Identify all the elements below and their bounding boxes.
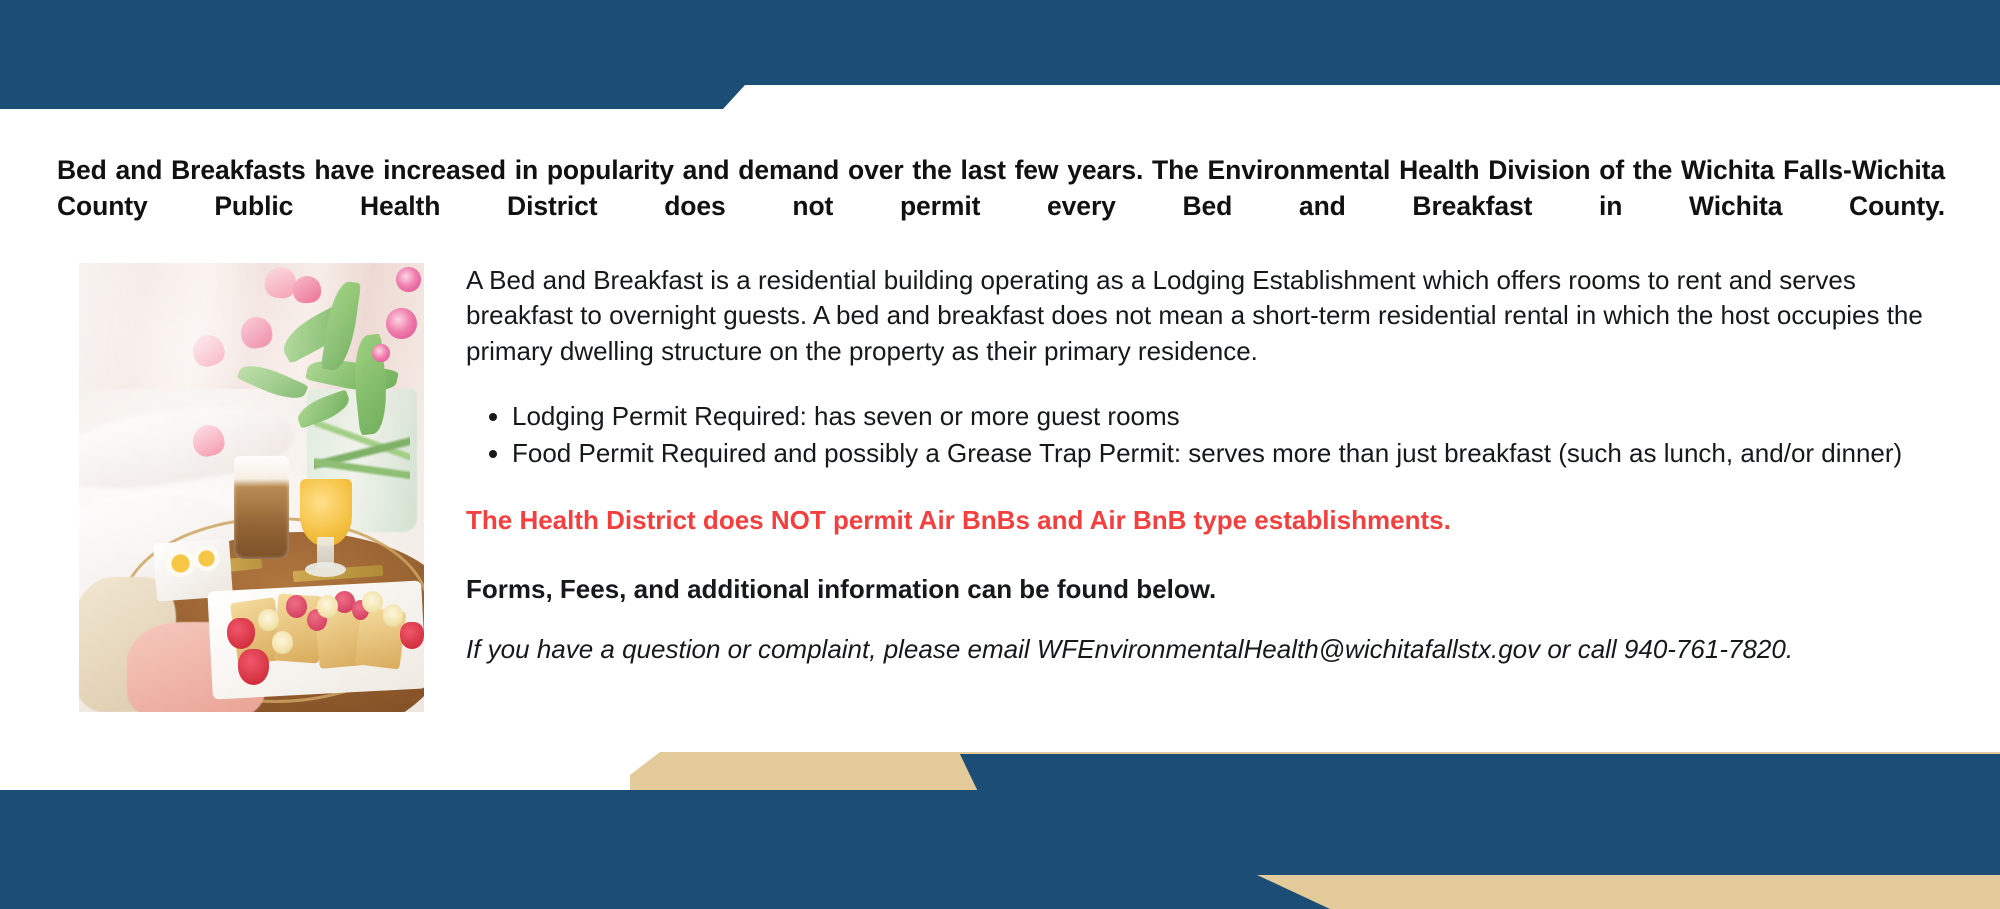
forms-fees-note: Forms, Fees, and additional information … <box>466 573 1946 607</box>
list-item: Lodging Permit Required: has seven or mo… <box>512 399 1946 434</box>
contact-line: If you have a question or complaint, ple… <box>466 633 1946 667</box>
photo-layers <box>79 263 424 712</box>
bottom-banner-tan <box>630 775 2000 909</box>
page-root: Bed and Breakfasts have increased in pop… <box>0 0 2000 909</box>
definition-paragraph: A Bed and Breakfast is a residential bui… <box>466 263 1946 369</box>
bottom-banner-tan-upper-notch <box>630 752 2000 775</box>
permit-requirements-list: Lodging Permit Required: has seven or mo… <box>466 399 1946 471</box>
photo-light-glow <box>79 263 424 712</box>
bottom-banner-blue-right <box>960 754 2000 875</box>
bottom-banner-cream-stripe <box>0 820 2000 849</box>
top-banner-blue <box>0 0 2000 109</box>
bottom-banner-blue-right-bevel <box>960 754 2000 875</box>
airbnb-warning-text: The Health District does NOT permit Air … <box>466 504 1946 538</box>
breakfast-photo <box>79 263 424 712</box>
bottom-banner-blue-left <box>0 790 1330 909</box>
list-item: Food Permit Required and possibly a Grea… <box>512 436 1946 471</box>
intro-heading: Bed and Breakfasts have increased in pop… <box>57 152 1945 261</box>
body-content-column: A Bed and Breakfast is a residential bui… <box>466 263 1946 693</box>
